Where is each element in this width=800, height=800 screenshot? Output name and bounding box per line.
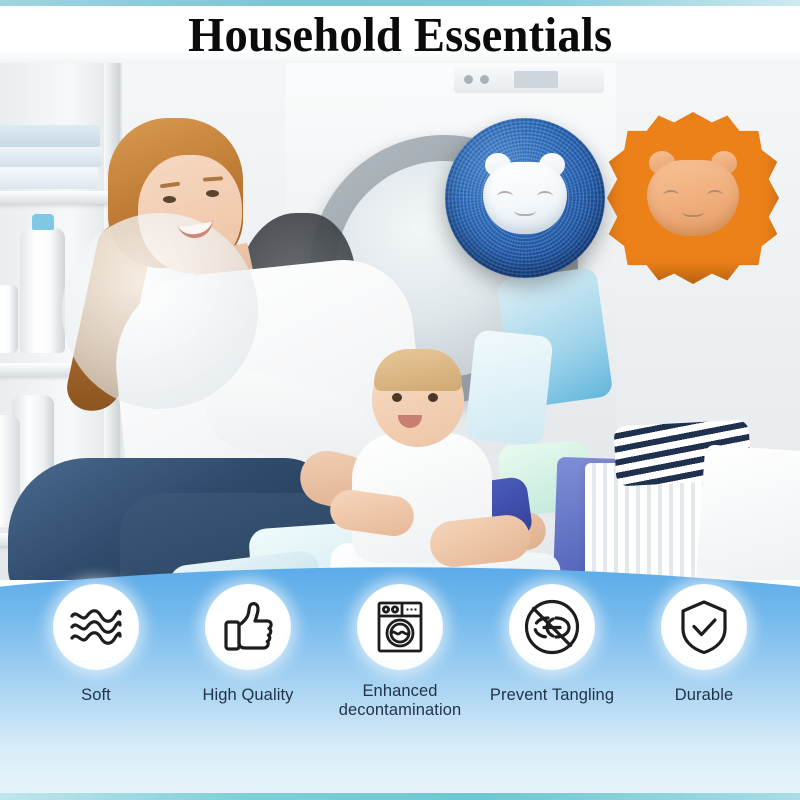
product-orange-lint-ball — [607, 112, 779, 284]
mother-eye — [206, 190, 219, 197]
bottom-accent-strip — [0, 793, 800, 800]
detergent-bottle — [0, 285, 18, 353]
feature-list: Soft High Quality — [0, 584, 800, 754]
washing-machine-icon — [357, 584, 443, 670]
bear-eye — [663, 190, 679, 201]
bear-eye — [537, 191, 553, 202]
shelf-board — [0, 191, 122, 204]
folded-towel — [0, 167, 98, 189]
machine-knob — [480, 75, 489, 84]
thumbs-up-icon — [205, 584, 291, 670]
bear-muzzle — [514, 202, 536, 216]
baby-eye — [428, 393, 438, 402]
title-banner: Household Essentials — [0, 6, 800, 63]
product-blue-lint-ball — [445, 118, 605, 278]
baby-eye — [392, 393, 402, 402]
baby-hair — [374, 349, 462, 391]
folded-towel — [0, 125, 100, 147]
bottle-cap — [32, 214, 54, 230]
feature-soft[interactable]: Soft — [22, 584, 170, 705]
feature-high-quality[interactable]: High Quality — [174, 584, 322, 705]
bear-face-core — [483, 162, 567, 234]
feature-label: Prevent Tangling — [490, 686, 614, 705]
feature-durable[interactable]: Durable — [630, 584, 778, 705]
blue-bear-face — [483, 162, 567, 234]
waves-icon — [53, 584, 139, 670]
bear-muzzle — [682, 203, 704, 217]
bear-eye — [707, 190, 723, 201]
feature-label: Enhanced decontamination — [326, 682, 474, 720]
feature-label: High Quality — [202, 686, 293, 705]
detergent-bottle — [20, 228, 65, 353]
machine-display — [514, 71, 558, 88]
white-towel — [695, 444, 800, 580]
feature-label: Soft — [81, 686, 111, 705]
folded-towel — [0, 147, 102, 167]
machine-door-glass — [62, 213, 258, 409]
laundry-cloth — [464, 329, 553, 447]
orange-bear-face — [647, 160, 739, 236]
no-tangle-icon — [509, 584, 595, 670]
product-poster: Household Essentials — [0, 0, 800, 800]
page-title: Household Essentials — [188, 10, 612, 59]
feature-prevent-tangling[interactable]: Prevent Tangling — [478, 584, 626, 705]
machine-knob — [464, 75, 473, 84]
shield-check-icon — [661, 584, 747, 670]
bear-face-core — [647, 160, 739, 236]
feature-enhanced-decontamination[interactable]: Enhanced decontamination — [326, 584, 474, 720]
feature-label: Durable — [675, 686, 733, 705]
bear-eye — [497, 191, 513, 202]
mother-eye — [163, 196, 176, 203]
